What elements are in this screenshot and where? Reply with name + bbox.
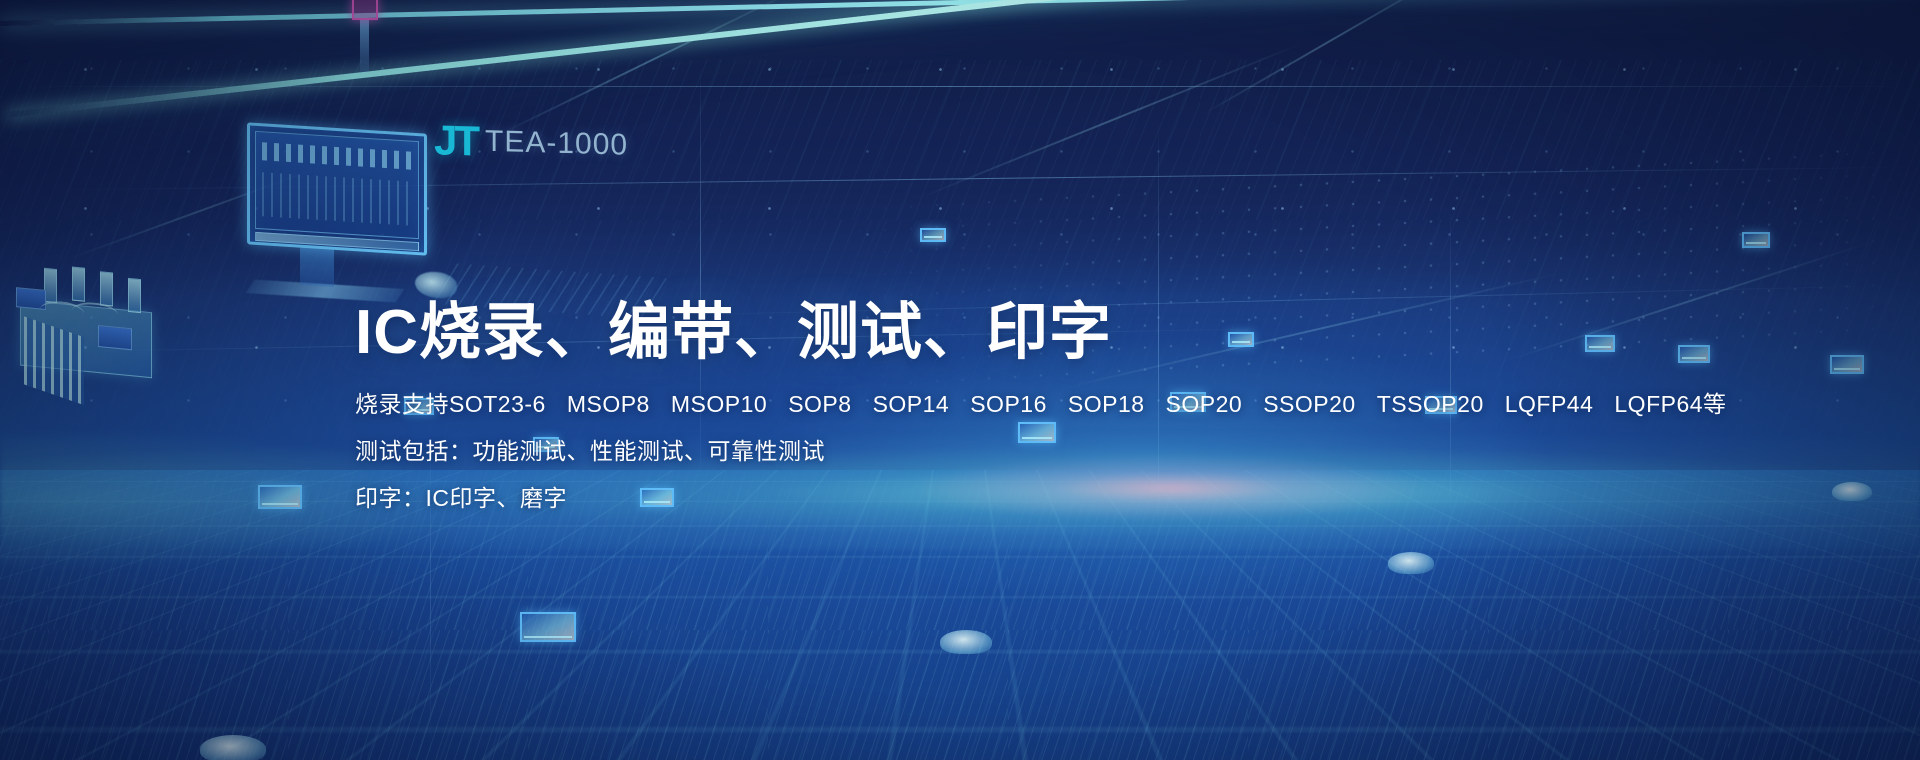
burn-prefix: 烧录支持SOT23-6 — [355, 393, 546, 416]
text-content: IC烧录、编带、测试、印字 烧录支持SOT23-6MSOP8MSOP10SOP8… — [355, 300, 1615, 534]
ic-handler-machine-icon — [10, 261, 165, 411]
conveyor-roller-icon — [1388, 552, 1434, 574]
jt-logo: JT — [434, 119, 477, 162]
package-name: SSOP20 — [1263, 393, 1356, 416]
marking-line: 印字：IC印字、磨字 — [355, 487, 1615, 510]
chip-package-icon — [1678, 345, 1710, 363]
test-line: 测试包括：功能测试、性能测试、可靠性测试 — [355, 440, 1615, 463]
chip-package-icon — [1742, 232, 1770, 248]
chip-package-icon — [520, 612, 576, 642]
magenta-fixture-icon — [352, 0, 378, 20]
package-name: SOP20 — [1166, 393, 1243, 416]
package-name: SOP8 — [788, 393, 851, 416]
chip-package-icon — [920, 228, 946, 242]
package-name: SOP16 — [970, 393, 1047, 416]
chip-package-icon — [1830, 355, 1864, 374]
package-name: LQFP64等 — [1614, 393, 1726, 416]
chip-package-icon — [258, 485, 302, 509]
wireframe-monitor-icon — [247, 122, 427, 255]
package-name: LQFP44 — [1505, 393, 1594, 416]
package-name: SOP14 — [873, 393, 950, 416]
ic-service-banner: JT TEA-1000 IC烧录、编带、测试、印字 烧录支持SOT23-6MSO… — [0, 0, 1920, 760]
package-name: MSOP10 — [671, 393, 767, 416]
monitor-stand — [300, 247, 334, 287]
ceiling-pole — [360, 18, 369, 72]
conveyor-roller-icon — [200, 735, 266, 760]
light-streak — [497, 0, 803, 136]
burn-support-line: 烧录支持SOT23-6MSOP8MSOP10SOP8SOP14SOP16SOP1… — [355, 393, 1615, 416]
package-name: MSOP8 — [567, 393, 650, 416]
page-title: IC烧录、编带、测试、印字 — [355, 300, 1615, 367]
package-list: MSOP8MSOP10SOP8SOP14SOP16SOP18SOP20SSOP2… — [567, 391, 1727, 417]
light-streak — [1200, 0, 1461, 117]
brand-lockup: JT TEA-1000 — [434, 119, 628, 166]
conveyor-roller-icon — [1832, 482, 1872, 501]
package-name: TSSOP20 — [1377, 393, 1484, 416]
conveyor-roller-icon — [940, 630, 992, 654]
package-name: SOP18 — [1068, 393, 1145, 416]
model-name: TEA-1000 — [485, 127, 628, 161]
